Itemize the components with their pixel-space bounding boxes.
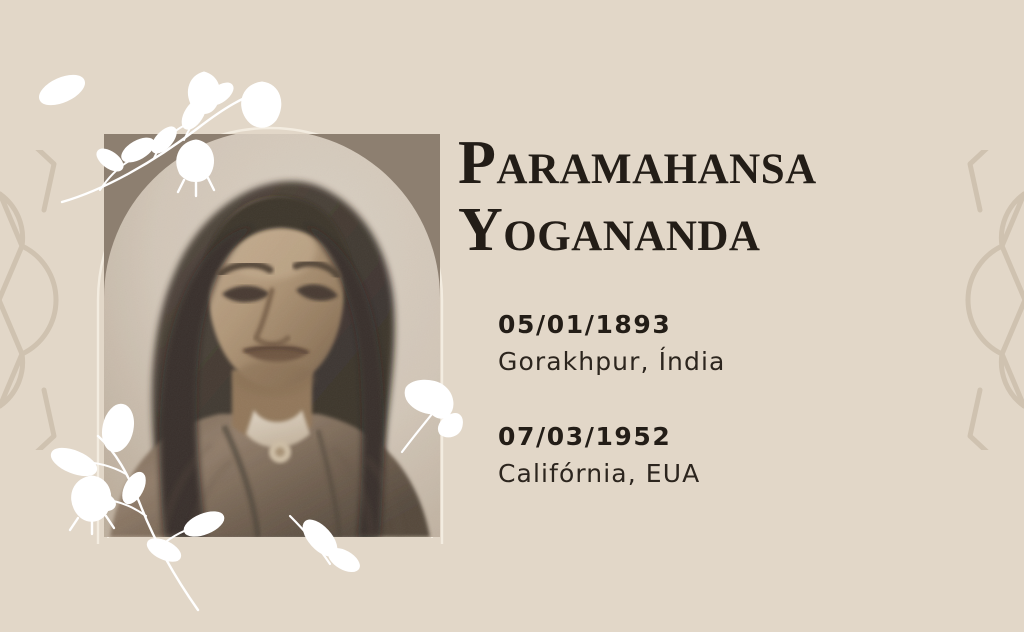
- birth-event: 05/01/1893 Gorakhpur, Índia: [498, 308, 978, 379]
- page-title: Paramahansa Yogananda: [458, 130, 978, 264]
- death-date: 07/03/1952: [498, 420, 978, 454]
- death-place: Califórnia, EUA: [498, 457, 978, 491]
- memorial-card: Paramahansa Yogananda 05/01/1893 Gorakhp…: [0, 0, 1024, 632]
- birth-place: Gorakhpur, Índia: [498, 345, 978, 379]
- portrait-photo: [104, 134, 440, 537]
- text-column: Paramahansa Yogananda 05/01/1893 Gorakhp…: [458, 130, 978, 491]
- mandala-ornament-left: [0, 150, 94, 450]
- portrait-block: [96, 124, 444, 546]
- death-event: 07/03/1952 Califórnia, EUA: [498, 420, 978, 491]
- birth-date: 05/01/1893: [498, 308, 978, 342]
